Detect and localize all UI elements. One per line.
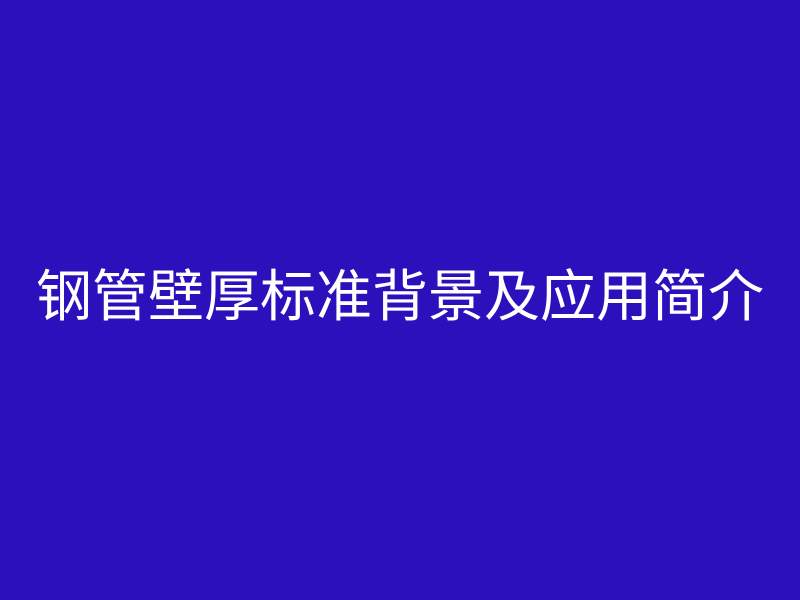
slide-canvas: 钢管壁厚标准背景及应用简介 bbox=[0, 0, 800, 600]
title-block: 钢管壁厚标准背景及应用简介 bbox=[0, 0, 800, 600]
page-title: 钢管壁厚标准背景及应用简介 bbox=[36, 269, 764, 328]
